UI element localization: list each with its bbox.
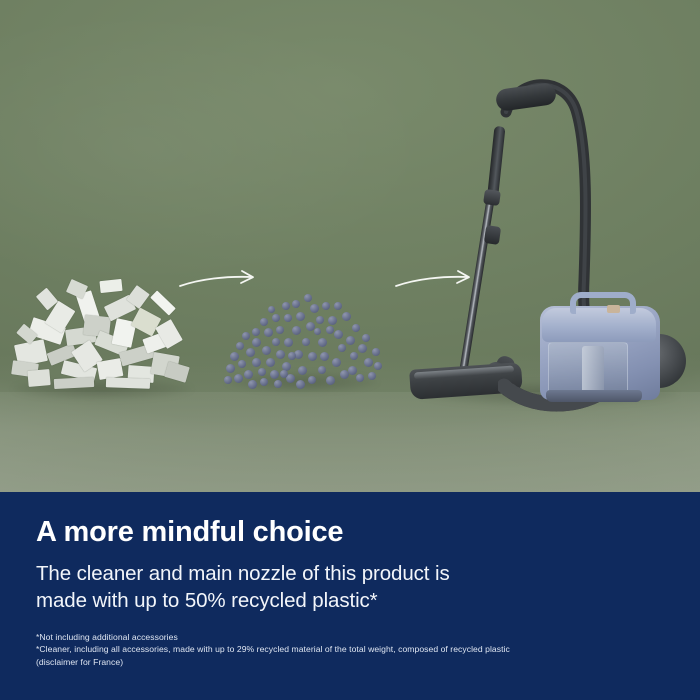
disclaimer-line-1: *Not including additional accessories — [36, 631, 666, 644]
vacuum-front-foot — [546, 390, 642, 402]
banner-subcopy: The cleaner and main nozzle of this prod… — [36, 560, 666, 615]
message-banner: A more mindful choice The cleaner and ma… — [0, 492, 700, 700]
vacuum-cleaner — [400, 70, 700, 410]
hero-photo — [0, 0, 700, 492]
banner-subcopy-line-1: The cleaner and main nozzle of this prod… — [36, 560, 666, 587]
recycled-plastic-pellets — [222, 282, 382, 390]
vacuum-bin-cyclone — [582, 346, 604, 396]
promo-banner-image: A more mindful choice The cleaner and ma… — [0, 0, 700, 700]
vacuum-wand-collar-upper — [483, 189, 501, 206]
vacuum-carry-handle — [570, 292, 636, 314]
banner-subcopy-line-2: made with up to 50% recycled plastic* — [36, 587, 666, 614]
disclaimer-line-2: *Cleaner, including all accessories, mad… — [36, 643, 666, 656]
shredded-plastic-waste — [10, 278, 190, 396]
banner-headline: A more mindful choice — [36, 518, 666, 547]
disclaimer-line-3: (disclaimer for France) — [36, 656, 666, 669]
vacuum-power-button — [607, 305, 620, 313]
banner-disclaimers: *Not including additional accessories *C… — [36, 631, 666, 669]
vacuum-wand-collar-lower — [484, 225, 501, 245]
